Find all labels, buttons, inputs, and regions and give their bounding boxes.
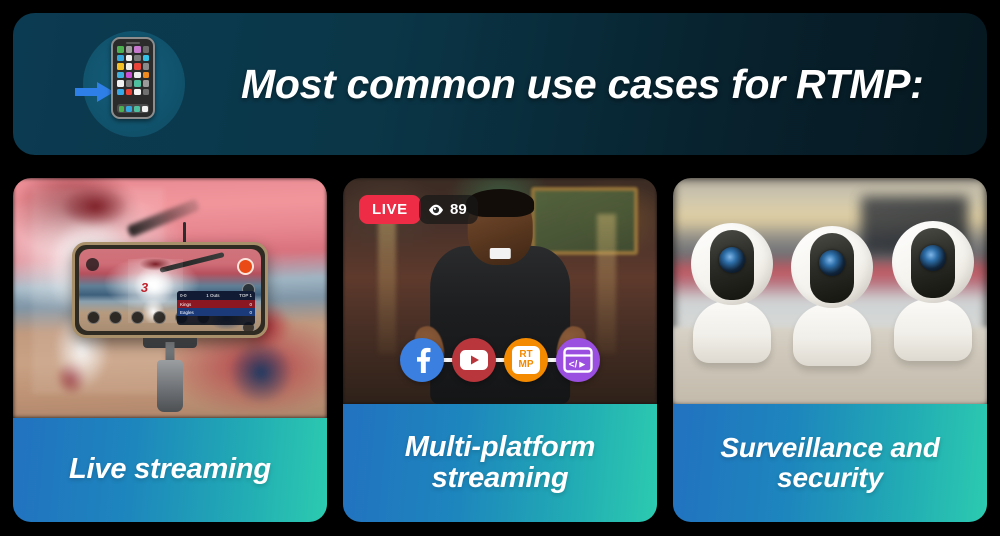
header-icon	[75, 25, 193, 143]
card-caption-live-streaming: Live streaming	[13, 418, 327, 522]
phone-app-grid	[117, 46, 149, 95]
app-tile-11	[134, 63, 141, 70]
pillar-right	[597, 214, 616, 354]
app-tile-10	[126, 63, 133, 70]
dock-tile-2	[126, 106, 132, 112]
security-camera-3	[890, 221, 976, 361]
arrow-right-icon	[75, 81, 115, 103]
screen-menu-icon[interactable]	[86, 258, 99, 271]
app-tile-12	[143, 63, 150, 70]
header-panel: Most common use cases for RTMP:	[13, 13, 987, 155]
app-tile-19	[134, 80, 141, 87]
platform-icon-row: RT MP </►	[343, 338, 657, 382]
scoreboard-team-home: Kings	[180, 302, 191, 307]
app-tile-5	[117, 55, 124, 62]
smartphone-on-tripod: 3	[72, 242, 268, 338]
scoreboard-team-away: Eagles	[180, 310, 194, 315]
control-icon-2[interactable]	[109, 311, 122, 324]
camera-base	[793, 304, 871, 366]
rtmp-icon[interactable]: RT MP	[504, 338, 548, 382]
app-tile-22	[126, 89, 133, 96]
camera-base	[894, 299, 972, 361]
code-window-glyph: </►	[563, 347, 593, 373]
scoreboard-overlay: 0-0 1 Outs TOP 1 Kings 0 Eagles 0	[177, 291, 255, 325]
tripod-head	[157, 360, 183, 412]
multi-platform-photo: LIVE 89	[343, 178, 657, 404]
app-tile-6	[126, 55, 133, 62]
scoreboard-score-home: 0	[249, 302, 252, 307]
svg-text:</►: </►	[569, 360, 588, 371]
embed-code-icon[interactable]: </►	[556, 338, 600, 382]
app-tile-7	[134, 55, 141, 62]
camera-base	[693, 301, 771, 363]
phone-app-dock	[117, 104, 149, 113]
presenter-collar	[489, 248, 510, 259]
live-badge: LIVE	[359, 195, 421, 224]
camera-lens	[719, 247, 745, 273]
rtmp-badge: RT MP	[512, 346, 540, 374]
card-caption-multi-platform: Multi-platform streaming	[343, 404, 657, 522]
control-icon-1[interactable]	[87, 311, 100, 324]
app-tile-16	[143, 72, 150, 79]
app-tile-3	[134, 46, 141, 53]
infographic-root: Most common use cases for RTMP: 3	[0, 0, 1000, 536]
youtube-play-glyph	[460, 350, 488, 370]
surveillance-photo	[673, 178, 987, 404]
live-streaming-photo: 3	[13, 178, 327, 418]
app-tile-13	[117, 72, 124, 79]
app-tile-17	[117, 80, 124, 87]
app-tile-15	[134, 72, 141, 79]
dock-tile-4	[142, 106, 148, 112]
record-button[interactable]	[237, 258, 254, 275]
use-case-card-row: 3	[13, 178, 987, 522]
eye-icon	[428, 204, 444, 216]
scoreboard-status: 0-0	[180, 293, 187, 298]
screen-jersey-number: 3	[141, 280, 148, 295]
use-case-card-live-streaming[interactable]: 3	[13, 178, 327, 522]
phone-notch	[126, 42, 140, 44]
app-tile-24	[143, 89, 150, 96]
facebook-f-glyph	[411, 347, 433, 373]
viewer-count-pill: 89	[419, 195, 478, 224]
camera-lens	[819, 250, 845, 276]
viewer-count: 89	[450, 201, 467, 218]
app-tile-20	[143, 80, 150, 87]
camera-lens	[920, 245, 946, 271]
scoreboard-inning: 1 Outs	[206, 293, 219, 298]
app-tile-23	[134, 89, 141, 96]
security-camera-1	[689, 223, 775, 363]
card-caption-surveillance: Surveillance and security	[673, 404, 987, 522]
app-tile-4	[143, 46, 150, 53]
app-tile-21	[117, 89, 124, 96]
rtmp-label-bottom: MP	[519, 360, 534, 370]
security-camera-2	[789, 226, 875, 366]
app-tile-8	[143, 55, 150, 62]
facebook-icon[interactable]	[400, 338, 444, 382]
dock-tile-1	[119, 106, 125, 112]
control-icon-3[interactable]	[131, 311, 144, 324]
use-case-card-multi-platform[interactable]: LIVE 89	[343, 178, 657, 522]
app-tile-14	[126, 72, 133, 79]
dock-tile-3	[134, 106, 140, 112]
app-tile-2	[126, 46, 133, 53]
smartphone-apps-icon	[111, 37, 155, 119]
page-title: Most common use cases for RTMP:	[241, 61, 924, 108]
pillar-left	[378, 214, 397, 354]
scoreboard-score-away: 0	[249, 310, 252, 315]
youtube-icon[interactable]	[452, 338, 496, 382]
phone-screen-preview: 3	[79, 249, 261, 331]
app-tile-18	[126, 80, 133, 87]
scoreboard-period: TOP 1	[239, 293, 252, 298]
app-tile-9	[117, 63, 124, 70]
app-tile-1	[117, 46, 124, 53]
control-icon-4[interactable]	[153, 311, 166, 324]
use-case-card-surveillance[interactable]: Surveillance and security	[673, 178, 987, 522]
